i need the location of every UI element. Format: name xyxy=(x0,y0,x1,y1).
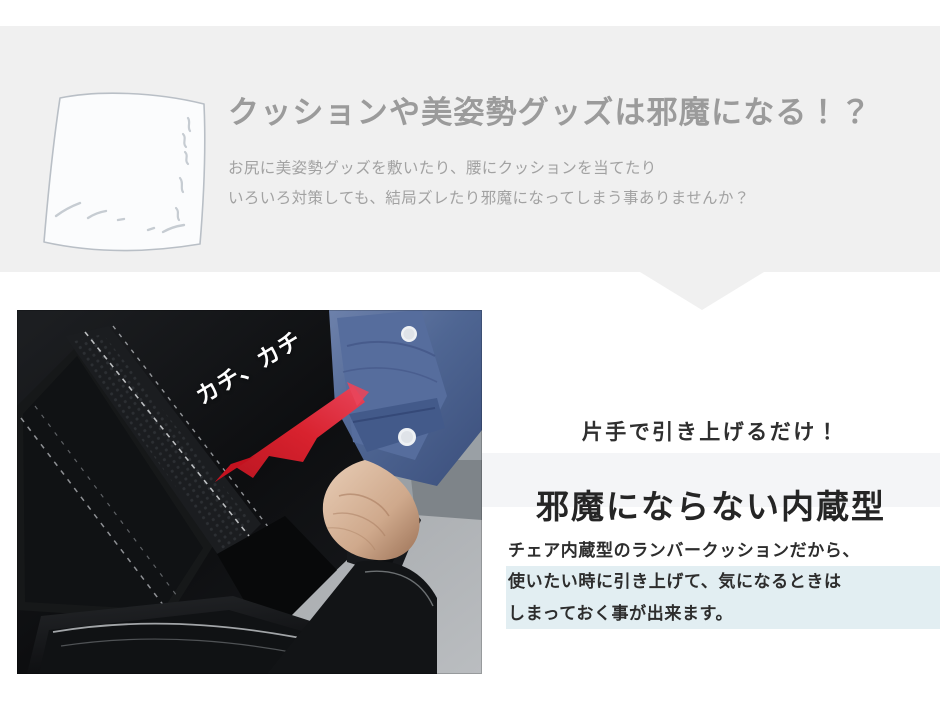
problem-section: クッションや美姿勢グッズは邪魔になる！？ お尻に美姿勢グッズを敷いたり、腰にクッ… xyxy=(0,26,940,272)
chevron-down-icon xyxy=(640,272,764,310)
feature-heading: 邪魔にならない内蔵型 xyxy=(482,481,940,533)
feature-subheading: 片手で引き上げるだけ！ xyxy=(482,416,940,446)
product-photo xyxy=(17,310,482,674)
problem-body: お尻に美姿勢グッズを敷いたり、腰にクッションを当てたり いろいろ対策しても、結局… xyxy=(228,154,918,214)
product-feature-page: クッションや美姿勢グッズは邪魔になる！？ お尻に美姿勢グッズを敷いたり、腰にクッ… xyxy=(0,0,940,701)
feature-body: チェア内蔵型のランバークッションだから、 使いたい時に引き上げて、気になるときは… xyxy=(508,535,938,629)
problem-text-block: クッションや美姿勢グッズは邪魔になる！？ お尻に美姿勢グッズを敷いたり、腰にクッ… xyxy=(228,92,918,214)
problem-body-line: いろいろ対策しても、結局ズレたり邪魔になってしまう事ありませんか？ xyxy=(228,184,918,214)
chair-photo-illustration xyxy=(17,310,482,674)
feature-section: 片手で引き上げるだけ！ 邪魔にならない内蔵型 チェア内蔵型のランバークッションだ… xyxy=(482,310,940,674)
feature-body-line: しまっておく事が出来ます。 xyxy=(508,598,938,629)
feature-body-line: 使いたい時に引き上げて、気になるときは xyxy=(508,566,938,597)
problem-body-line: お尻に美姿勢グッズを敷いたり、腰にクッションを当てたり xyxy=(228,154,918,184)
cushion-sketch-icon xyxy=(28,74,218,259)
feature-body-line: チェア内蔵型のランバークッションだから、 xyxy=(508,535,938,566)
problem-heading: クッションや美姿勢グッズは邪魔になる！？ xyxy=(228,92,918,134)
